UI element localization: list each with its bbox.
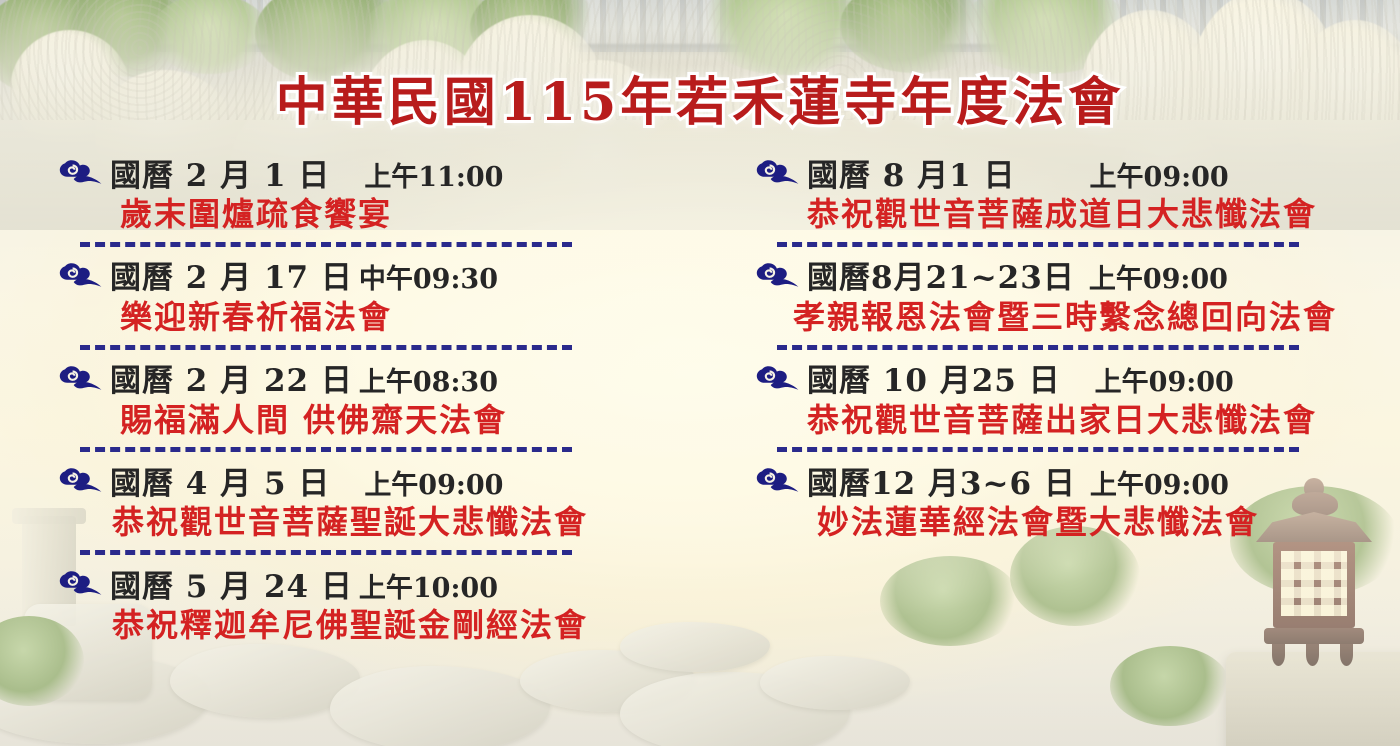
event-time: 上午09:00 xyxy=(364,463,503,502)
temple-event-poster: 中華民國115年若禾蓮寺年度法會 國曆 2 月 1 日 xyxy=(0,0,1400,746)
event-header: 國曆12 月3~6 日 上午09:00 xyxy=(755,458,1400,502)
event-date: 國曆 8 月1 日 xyxy=(807,150,1016,195)
event-item[interactable]: 國曆 2 月 17 日 中午09:30 樂迎新春祈福法會 xyxy=(58,253,700,350)
event-header: 國曆 2 月 22 日 上午08:30 xyxy=(58,356,700,400)
event-time: 上午10:00 xyxy=(359,566,498,605)
event-header: 國曆 5 月 24 日 上午10:00 xyxy=(58,561,700,605)
event-divider xyxy=(777,447,1299,452)
auspicious-cloud-icon xyxy=(58,261,104,289)
event-name: 歲末圍爐疏食饗宴 xyxy=(58,196,700,233)
event-item[interactable]: 國曆 5 月 24 日 上午10:00 恭祝釋迦牟尼佛聖誕金剛經法會 xyxy=(58,561,700,644)
event-date: 國曆 2 月 17 日 xyxy=(110,252,353,297)
event-divider xyxy=(777,345,1299,350)
event-date: 國曆 10 月25 日 xyxy=(807,355,1061,400)
event-name: 孝親報恩法會暨三時繫念總回向法會 xyxy=(755,299,1400,336)
event-header: 國曆8月21~23日 上午09:00 xyxy=(755,253,1400,297)
event-time: 上午11:00 xyxy=(364,155,503,194)
event-item[interactable]: 國曆 2 月 1 日 上午11:00 歲末圍爐疏食饗宴 xyxy=(58,150,700,247)
event-name: 妙法蓮華經法會暨大悲懺法會 xyxy=(755,504,1400,541)
event-date: 國曆 4 月 5 日 xyxy=(110,458,330,503)
event-name: 樂迎新春祈福法會 xyxy=(58,299,700,336)
event-date: 國曆12 月3~6 日 xyxy=(807,458,1076,503)
event-date-line: 國曆 5 月 24 日 上午10:00 xyxy=(110,561,498,606)
event-date-line: 國曆 8 月1 日 上午09:00 xyxy=(807,150,1229,195)
event-date-line: 國曆 10 月25 日 上午09:00 xyxy=(807,355,1234,400)
event-header: 國曆 2 月 17 日 中午09:30 xyxy=(58,253,700,297)
event-item[interactable]: 國曆 8 月1 日 上午09:00 恭祝觀世音菩薩成道日大悲懺法會 xyxy=(755,150,1400,247)
auspicious-cloud-icon xyxy=(58,569,104,597)
event-time: 中午09:30 xyxy=(359,257,498,296)
event-name: 恭祝觀世音菩薩成道日大悲懺法會 xyxy=(755,196,1400,233)
event-name: 恭祝觀世音菩薩聖誕大悲懺法會 xyxy=(58,504,700,541)
event-date-line: 國曆 2 月 17 日 中午09:30 xyxy=(110,252,498,297)
event-date-line: 國曆 4 月 5 日 上午09:00 xyxy=(110,458,503,503)
event-item[interactable]: 國曆12 月3~6 日 上午09:00 妙法蓮華經法會暨大悲懺法會 xyxy=(755,458,1400,541)
event-column-right: 國曆 8 月1 日 上午09:00 恭祝觀世音菩薩成道日大悲懺法會 xyxy=(700,150,1400,644)
auspicious-cloud-icon xyxy=(58,364,104,392)
event-columns: 國曆 2 月 1 日 上午11:00 歲末圍爐疏食饗宴 xyxy=(0,150,1400,644)
event-date-line: 國曆12 月3~6 日 上午09:00 xyxy=(807,458,1229,503)
auspicious-cloud-icon xyxy=(755,261,801,289)
event-item[interactable]: 國曆 4 月 5 日 上午09:00 恭祝觀世音菩薩聖誕大悲懺法會 xyxy=(58,458,700,555)
event-item[interactable]: 國曆8月21~23日 上午09:00 孝親報恩法會暨三時繫念總回向法會 xyxy=(755,253,1400,350)
event-name: 恭祝釋迦牟尼佛聖誕金剛經法會 xyxy=(58,607,700,644)
event-date: 國曆8月21~23日 xyxy=(807,252,1075,297)
event-header: 國曆 10 月25 日 上午09:00 xyxy=(755,356,1400,400)
event-date: 國曆 5 月 24 日 xyxy=(110,561,353,606)
event-column-left: 國曆 2 月 1 日 上午11:00 歲末圍爐疏食饗宴 xyxy=(0,150,700,644)
event-date: 國曆 2 月 22 日 xyxy=(110,355,353,400)
event-date-line: 國曆 2 月 1 日 上午11:00 xyxy=(110,150,503,195)
event-time: 上午09:00 xyxy=(1090,463,1229,502)
event-divider xyxy=(80,550,572,555)
auspicious-cloud-icon xyxy=(58,158,104,186)
event-time: 上午09:00 xyxy=(1095,360,1234,399)
event-header: 國曆 2 月 1 日 上午11:00 xyxy=(58,150,700,194)
event-date-line: 國曆 2 月 22 日 上午08:30 xyxy=(110,355,498,400)
event-divider xyxy=(80,242,572,247)
event-name: 賜福滿人間 供佛齋天法會 xyxy=(58,402,700,439)
event-divider xyxy=(80,447,572,452)
event-time: 上午09:00 xyxy=(1089,257,1228,296)
event-time: 上午08:30 xyxy=(359,360,498,399)
event-divider xyxy=(777,242,1299,247)
event-date-line: 國曆8月21~23日 上午09:00 xyxy=(807,252,1228,297)
event-header: 國曆 4 月 5 日 上午09:00 xyxy=(58,458,700,502)
auspicious-cloud-icon xyxy=(58,466,104,494)
event-header: 國曆 8 月1 日 上午09:00 xyxy=(755,150,1400,194)
event-item[interactable]: 國曆 2 月 22 日 上午08:30 賜福滿人間 供佛齋天法會 xyxy=(58,356,700,453)
event-divider xyxy=(80,345,572,350)
event-date: 國曆 2 月 1 日 xyxy=(110,150,330,195)
page-title: 中華民國115年若禾蓮寺年度法會 xyxy=(0,60,1400,135)
event-item[interactable]: 國曆 10 月25 日 上午09:00 恭祝觀世音菩薩出家日大悲懺法會 xyxy=(755,356,1400,453)
event-name: 恭祝觀世音菩薩出家日大悲懺法會 xyxy=(755,402,1400,439)
auspicious-cloud-icon xyxy=(755,364,801,392)
event-time: 上午09:00 xyxy=(1090,155,1229,194)
auspicious-cloud-icon xyxy=(755,158,801,186)
auspicious-cloud-icon xyxy=(755,466,801,494)
